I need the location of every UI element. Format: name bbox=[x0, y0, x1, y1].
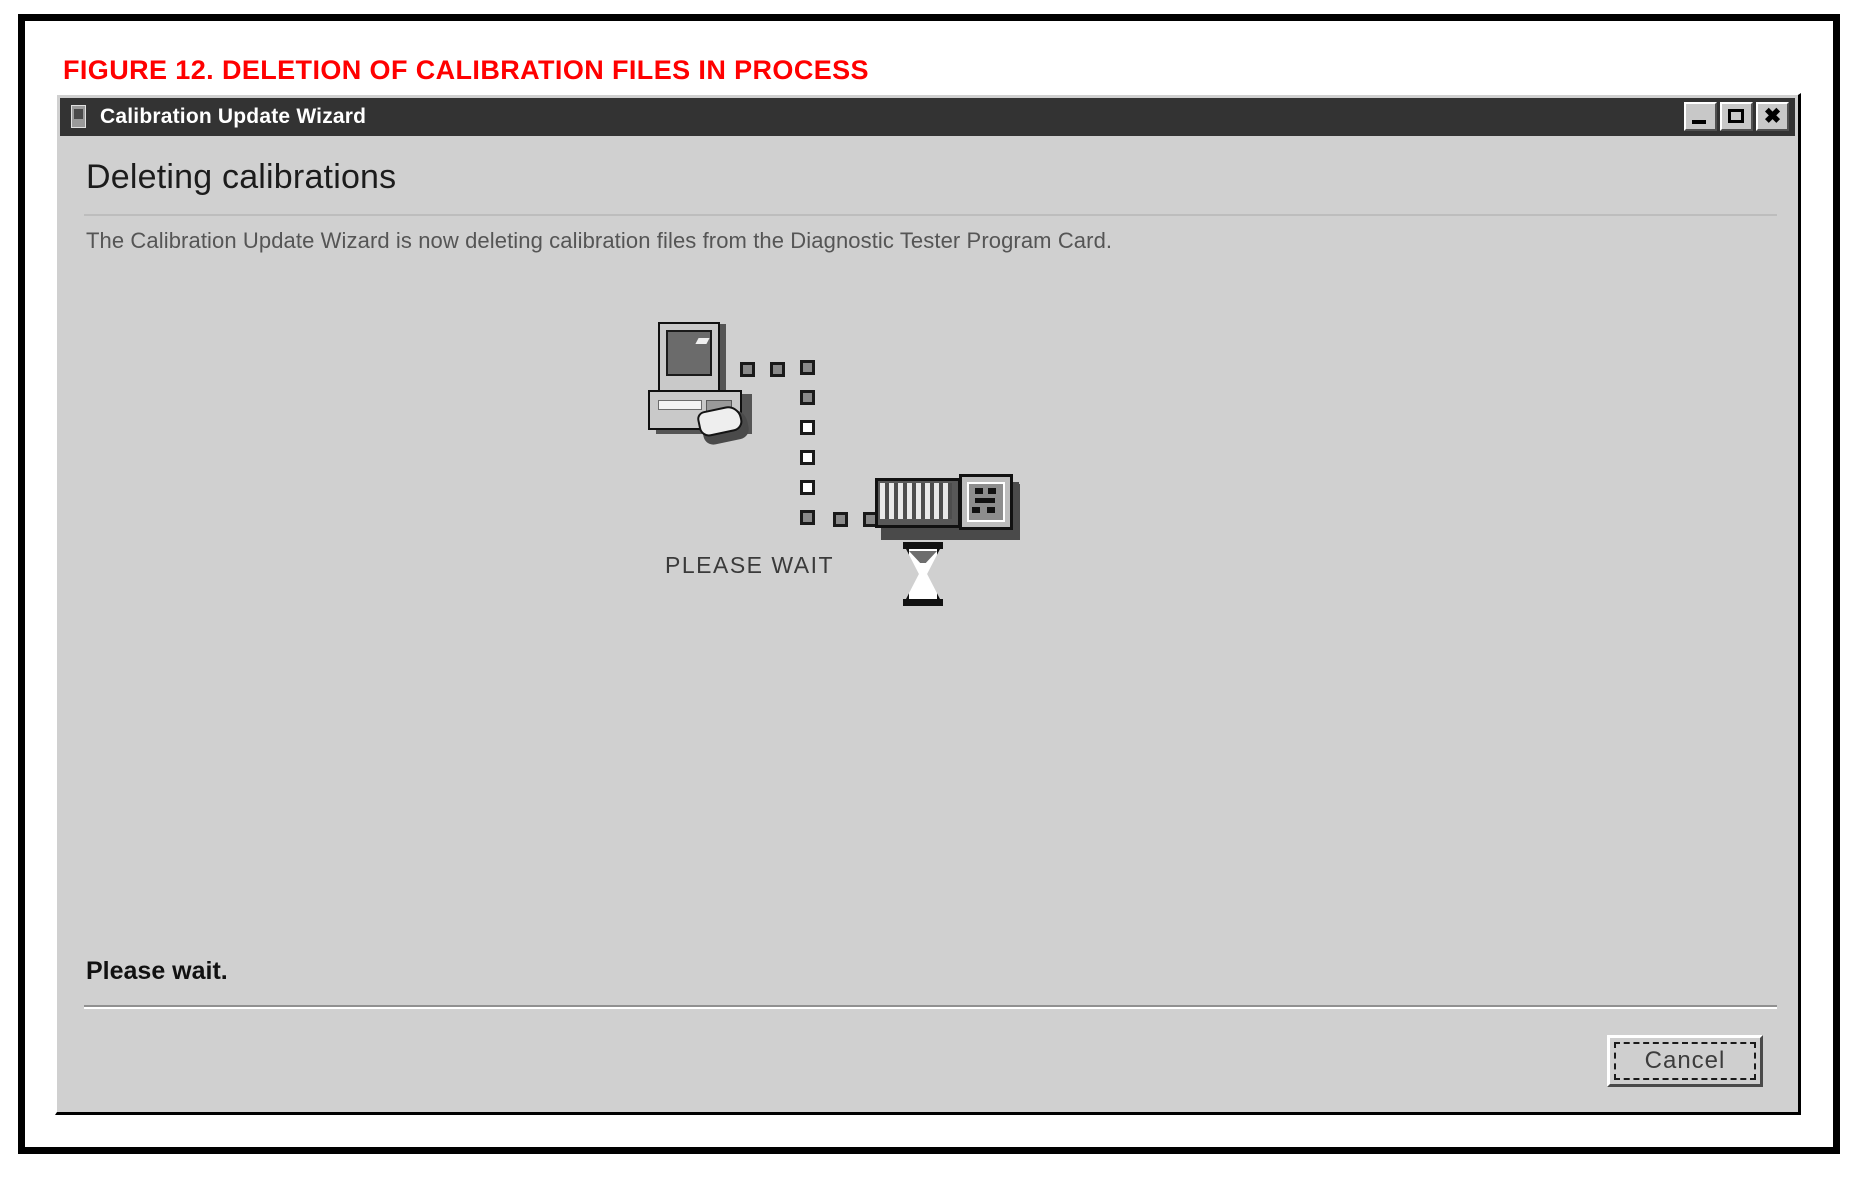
figure-caption: FIGURE 12. DELETION OF CALIBRATION FILES… bbox=[63, 55, 869, 86]
window-client-area: Deleting calibrations The Calibration Up… bbox=[60, 140, 1795, 1109]
page-title: Deleting calibrations bbox=[86, 158, 396, 197]
heading-divider bbox=[84, 214, 1777, 216]
transfer-dot bbox=[800, 450, 815, 465]
close-button[interactable]: ✖ bbox=[1756, 102, 1789, 131]
cancel-button-label: Cancel bbox=[1645, 1047, 1726, 1075]
status-text: Please wait. bbox=[86, 957, 228, 986]
transfer-dot bbox=[740, 362, 755, 377]
focus-outline: Cancel bbox=[1614, 1042, 1756, 1080]
hourglass-icon bbox=[900, 542, 946, 606]
window-titlebar[interactable]: Calibration Update Wizard ✖ bbox=[60, 98, 1795, 136]
please-wait-label: PLEASE WAIT bbox=[665, 552, 834, 579]
minimize-icon bbox=[1692, 120, 1706, 124]
cancel-button[interactable]: Cancel bbox=[1607, 1035, 1763, 1087]
window-title: Calibration Update Wizard bbox=[100, 105, 366, 129]
diagnostic-tester-icon bbox=[875, 478, 1020, 540]
maximize-icon bbox=[1728, 109, 1744, 123]
transfer-dot bbox=[833, 512, 848, 527]
transfer-dot bbox=[800, 390, 815, 405]
wizard-window: Calibration Update Wizard ✖ Deleting cal… bbox=[55, 93, 1801, 1115]
page-description: The Calibration Update Wizard is now del… bbox=[86, 228, 1112, 254]
figure-frame: FIGURE 12. DELETION OF CALIBRATION FILES… bbox=[18, 14, 1840, 1154]
transfer-dot bbox=[800, 360, 815, 375]
close-icon: ✖ bbox=[1758, 104, 1787, 129]
transfer-dot bbox=[800, 420, 815, 435]
window-controls: ✖ bbox=[1684, 102, 1789, 131]
footer-divider bbox=[84, 1005, 1777, 1009]
desktop-computer-icon bbox=[640, 320, 770, 450]
minimize-button[interactable] bbox=[1684, 102, 1717, 131]
device-icon bbox=[68, 104, 90, 130]
transfer-dot bbox=[800, 510, 815, 525]
transfer-illustration: PLEASE WAIT bbox=[600, 320, 1050, 650]
transfer-dot bbox=[770, 362, 785, 377]
maximize-button[interactable] bbox=[1720, 102, 1753, 131]
transfer-dot bbox=[800, 480, 815, 495]
